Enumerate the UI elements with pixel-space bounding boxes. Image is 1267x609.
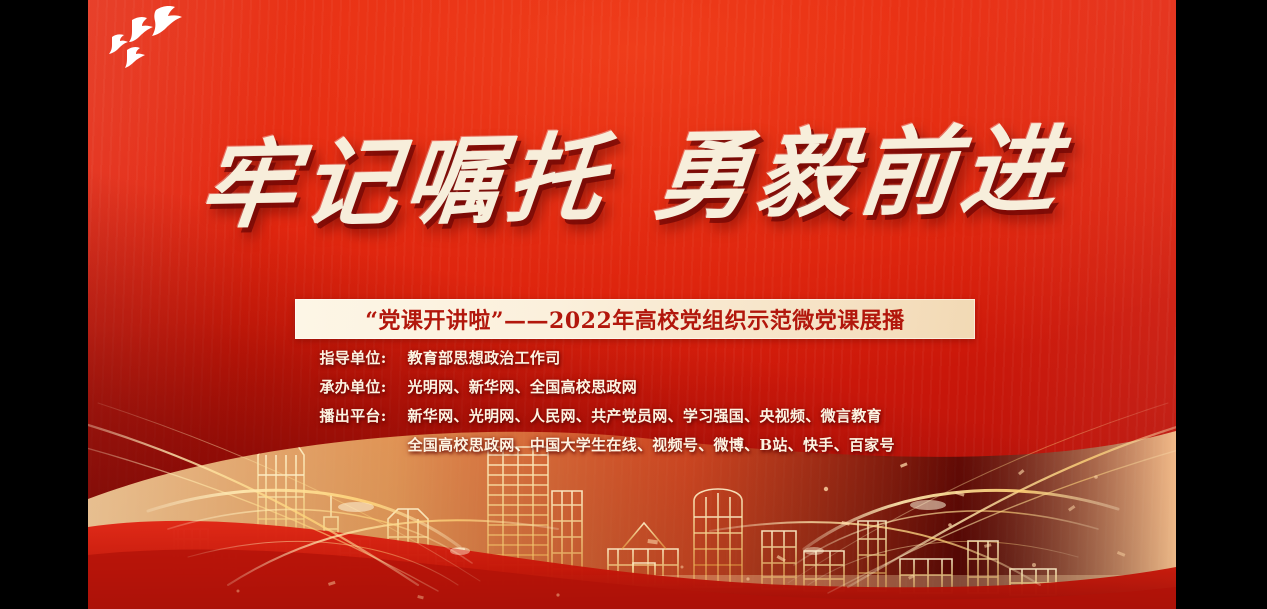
credit-value: 光明网、新华网、全国高校思政网 <box>408 376 945 397</box>
credit-label: 指导单位: <box>320 347 408 368</box>
credit-label: 播出平台: <box>320 405 408 426</box>
credit-value: 新华网、光明网、人民网、共产党员网、学习强国、央视频、微言教育 <box>408 405 945 426</box>
subtitle-banner-text: “党课开讲啦”——2022年高校党组织示范微党课展播 <box>365 303 905 335</box>
credits-block: 指导单位: 教育部思想政治工作司 承办单位: 光明网、新华网、全国高校思政网 播… <box>88 347 1176 455</box>
main-title-part-2: 勇毅前进 <box>649 113 1070 234</box>
credit-row-platforms-cont: 全国高校思政网、中国大学生在线、视频号、微博、B站、快手、百家号 <box>320 434 945 455</box>
letterbox-bar-left <box>0 0 88 609</box>
main-title-spacer <box>606 211 652 212</box>
credit-row-organizer: 承办单位: 光明网、新华网、全国高校思政网 <box>320 376 945 397</box>
main-title-line: 牢记嘱托勇毅前进 <box>195 120 1069 237</box>
subtitle-banner: “党课开讲啦”——2022年高校党组织示范微党课展播 <box>295 299 975 339</box>
credit-value: 全国高校思政网、中国大学生在线、视频号、微博、B站、快手、百家号 <box>408 434 945 455</box>
credit-value: 教育部思想政治工作司 <box>408 347 945 368</box>
dove-flock-icon <box>94 4 224 74</box>
credit-label: 承办单位: <box>320 376 408 397</box>
poster-image: 牢记嘱托勇毅前进 “党课开讲啦”——2022年高校党组织示范微党课展播 指导单位… <box>88 0 1176 609</box>
poster-main-title: 牢记嘱托勇毅前进 <box>88 128 1176 229</box>
credit-row-platforms: 播出平台: 新华网、光明网、人民网、共产党员网、学习强国、央视频、微言教育 <box>320 405 945 426</box>
main-title-part-1: 牢记嘱托 <box>194 121 615 242</box>
credit-row-guidance: 指导单位: 教育部思想政治工作司 <box>320 347 945 368</box>
screenshot-canvas: 牢记嘱托勇毅前进 “党课开讲啦”——2022年高校党组织示范微党课展播 指导单位… <box>0 0 1267 609</box>
city-skyline-silhouette <box>88 443 1176 609</box>
letterbox-bar-right <box>1176 0 1267 609</box>
